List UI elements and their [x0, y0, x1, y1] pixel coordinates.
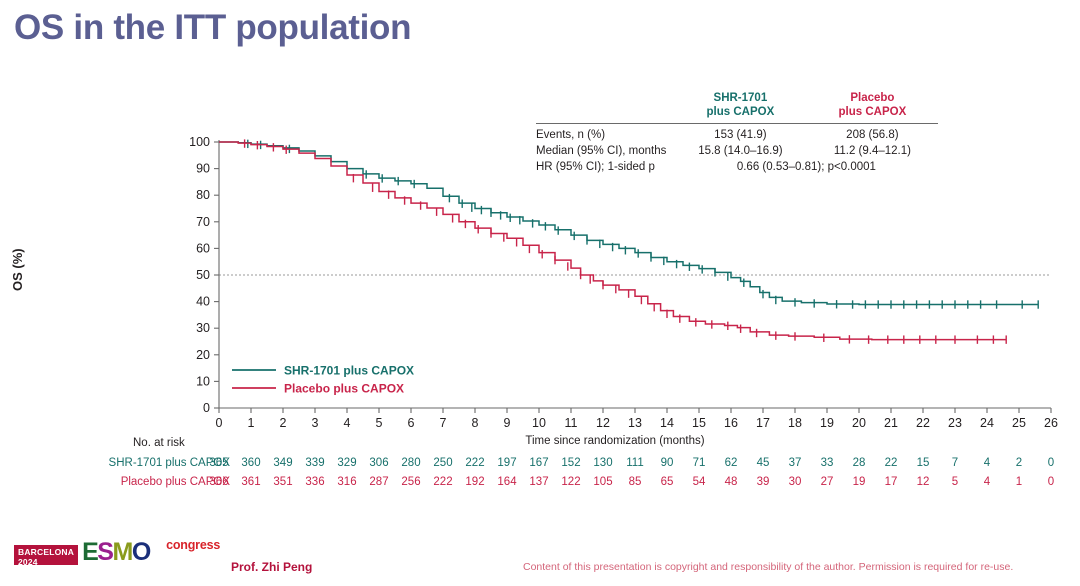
risk-value: 5: [940, 476, 970, 488]
risk-value: 280: [396, 457, 426, 469]
risk-value: 19: [844, 476, 874, 488]
risk-value: 130: [588, 457, 618, 469]
copyright-notice: Content of this presentation is copyrigh…: [523, 561, 1013, 573]
risk-value: 167: [524, 457, 554, 469]
risk-value: 316: [332, 476, 362, 488]
logo-letter-m: M: [112, 538, 131, 566]
risk-value: 4: [972, 476, 1002, 488]
x-tick-label: 4: [344, 416, 351, 430]
y-tick-label: 100: [189, 135, 210, 149]
y-tick-label: 60: [196, 241, 210, 255]
risk-value: 45: [748, 457, 778, 469]
x-tick-label: 17: [756, 416, 770, 430]
x-tick-label: 5: [376, 416, 383, 430]
arm-a-name-line2: plus CAPOX: [707, 106, 775, 118]
risk-value: 164: [492, 476, 522, 488]
risk-value: 222: [428, 476, 458, 488]
risk-value: 1: [1004, 476, 1034, 488]
risk-value: 122: [556, 476, 586, 488]
kaplan-meier-chart: 0102030405060708090100OS (%)012345678910…: [0, 118, 1080, 448]
x-tick-label: 18: [788, 416, 802, 430]
stats-header-arm-b: Placebo plus CAPOX: [806, 92, 938, 121]
x-tick-label: 3: [312, 416, 319, 430]
x-tick-label: 6: [408, 416, 415, 430]
risk-value: 222: [460, 457, 490, 469]
x-tick-label: 10: [532, 416, 546, 430]
x-tick-label: 24: [980, 416, 994, 430]
risk-value: 27: [812, 476, 842, 488]
x-tick-label: 26: [1044, 416, 1058, 430]
x-tick-label: 11: [565, 416, 578, 430]
risk-row-arm-a: SHR-1701 plus CAPOX 36536034933932930628…: [0, 457, 1080, 474]
risk-value: 39: [748, 476, 778, 488]
chart-svg: 0102030405060708090100OS (%)012345678910…: [0, 118, 1080, 448]
x-tick-label: 22: [916, 416, 930, 430]
x-tick-label: 1: [248, 416, 255, 430]
risk-value: 48: [716, 476, 746, 488]
logo-city-year-badge: BARCELONA 2024: [14, 545, 78, 565]
y-tick-label: 10: [196, 374, 210, 388]
risk-value: 37: [780, 457, 810, 469]
x-tick-label: 21: [884, 416, 898, 430]
risk-value: 306: [364, 457, 394, 469]
risk-value: 349: [268, 457, 298, 469]
risk-value: 15: [908, 457, 938, 469]
page-title: OS in the ITT population: [14, 8, 411, 48]
risk-row-label-arm-b: Placebo plus CAPOX: [30, 476, 230, 488]
y-tick-label: 30: [196, 321, 210, 335]
risk-value: 4: [972, 457, 1002, 469]
x-tick-label: 8: [472, 416, 479, 430]
risk-value: 329: [332, 457, 362, 469]
risk-value: 28: [844, 457, 874, 469]
risk-value: 361: [236, 476, 266, 488]
risk-value: 0: [1036, 476, 1066, 488]
logo-letter-s: S: [97, 538, 112, 566]
footer: BARCELONA 2024 ESMOcongress Prof. Zhi Pe…: [0, 528, 1080, 586]
x-tick-label: 20: [852, 416, 866, 430]
risk-value: 30: [780, 476, 810, 488]
legend-label-arm-b: Placebo plus CAPOX: [284, 382, 404, 396]
y-tick-label: 80: [196, 188, 210, 202]
x-tick-label: 16: [724, 416, 738, 430]
x-tick-label: 9: [504, 416, 511, 430]
x-tick-label: 19: [820, 416, 834, 430]
risk-value: 62: [716, 457, 746, 469]
risk-value: 22: [876, 457, 906, 469]
risk-table-title: No. at risk: [133, 437, 185, 449]
x-axis-title: Time since randomization (months): [525, 435, 704, 447]
risk-value: 7: [940, 457, 970, 469]
stats-header-row: SHR-1701 plus CAPOX Placebo plus CAPOX: [536, 92, 938, 121]
risk-value: 250: [428, 457, 458, 469]
stats-header-arm-a: SHR-1701 plus CAPOX: [674, 92, 806, 121]
risk-value: 65: [652, 476, 682, 488]
risk-value: 152: [556, 457, 586, 469]
presenter-name: Prof. Zhi Peng: [231, 560, 312, 574]
censor-marks-arm-b: [245, 139, 1007, 343]
risk-value: 12: [908, 476, 938, 488]
risk-value: 256: [396, 476, 426, 488]
x-tick-label: 7: [440, 416, 447, 430]
y-tick-label: 40: [196, 295, 210, 309]
risk-value: 366: [204, 476, 234, 488]
risk-value: 90: [652, 457, 682, 469]
risk-value: 339: [300, 457, 330, 469]
x-tick-label: 25: [1012, 416, 1026, 430]
risk-value: 336: [300, 476, 330, 488]
y-axis-title: OS (%): [10, 248, 25, 291]
x-tick-label: 0: [216, 416, 223, 430]
x-tick-label: 12: [596, 416, 610, 430]
risk-value: 85: [620, 476, 650, 488]
risk-value: 197: [492, 457, 522, 469]
arm-a-name-line1: SHR-1701: [714, 92, 768, 104]
logo-congress-word: congress: [166, 539, 220, 552]
risk-value: 192: [460, 476, 490, 488]
logo-esmo-wordmark: ESMOcongress: [82, 540, 150, 565]
risk-row-arm-b: Placebo plus CAPOX 366361351336316287256…: [0, 476, 1080, 493]
y-tick-label: 90: [196, 162, 210, 176]
esmo-congress-logo: BARCELONA 2024 ESMOcongress: [14, 539, 150, 565]
x-tick-label: 15: [692, 416, 706, 430]
risk-row-label-arm-a: SHR-1701 plus CAPOX: [30, 457, 230, 469]
logo-letter-o: O: [132, 538, 150, 566]
risk-value: 111: [620, 457, 650, 469]
risk-value: 33: [812, 457, 842, 469]
y-tick-label: 0: [203, 401, 210, 415]
x-tick-label: 2: [280, 416, 287, 430]
stats-header-blank: [536, 92, 674, 121]
censor-marks-arm-a: [248, 140, 1038, 309]
risk-value: 365: [204, 457, 234, 469]
x-tick-label: 14: [660, 416, 674, 430]
arm-b-name-line2: plus CAPOX: [839, 106, 907, 118]
x-tick-label: 13: [628, 416, 642, 430]
risk-value: 105: [588, 476, 618, 488]
risk-value: 71: [684, 457, 714, 469]
risk-value: 287: [364, 476, 394, 488]
y-tick-label: 50: [196, 268, 210, 282]
risk-value: 2: [1004, 457, 1034, 469]
y-tick-label: 70: [196, 215, 210, 229]
logo-letter-e: E: [82, 538, 97, 566]
risk-value: 54: [684, 476, 714, 488]
risk-value: 137: [524, 476, 554, 488]
risk-value: 360: [236, 457, 266, 469]
y-tick-label: 20: [196, 348, 210, 362]
risk-value: 351: [268, 476, 298, 488]
legend-label-arm-a: SHR-1701 plus CAPOX: [284, 364, 414, 378]
survival-curve-arm-b: [219, 142, 1006, 340]
x-tick-label: 23: [948, 416, 962, 430]
risk-value: 0: [1036, 457, 1066, 469]
arm-b-name-line1: Placebo: [850, 92, 894, 104]
risk-value: 17: [876, 476, 906, 488]
logo-year: 2024: [18, 558, 74, 568]
